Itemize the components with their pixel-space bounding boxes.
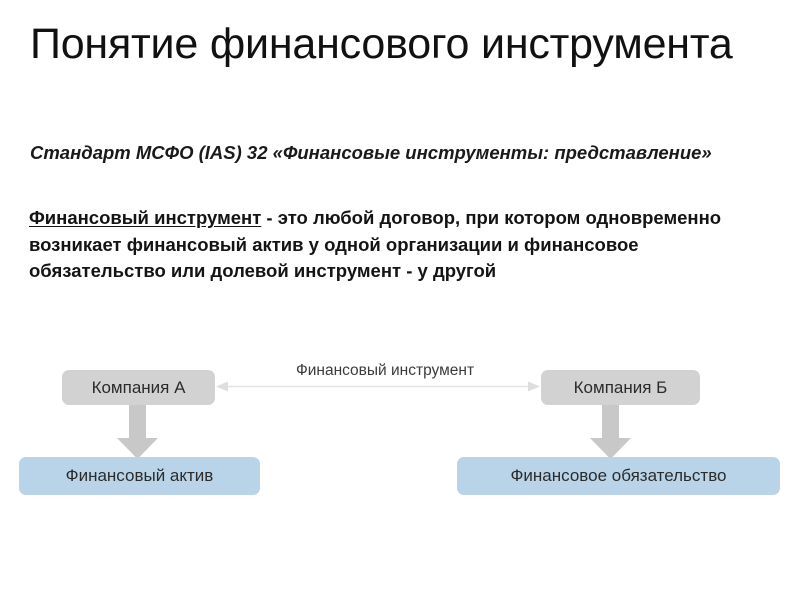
definition-paragraph: Финансовый инструмент - это любой догово… xyxy=(29,205,773,285)
definition-line-3: обязательство или долевой инструмент - у… xyxy=(29,258,773,285)
definition-line-1: Финансовый инструмент - это любой догово… xyxy=(29,205,773,232)
definition-line-1-rest: - это любой договор, при котором одновре… xyxy=(261,207,721,228)
connector-arrowhead-left xyxy=(216,382,228,392)
diagram-node-financial-asset[interactable]: Финансовый актив xyxy=(19,457,260,495)
page-title: Понятие финансового инструмента xyxy=(30,18,775,70)
definition-line-2: возникает финансовый актив у одной орган… xyxy=(29,232,773,259)
definition-term: Финансовый инструмент xyxy=(29,207,261,228)
standard-reference-line: Стандарт МСФО (IAS) 32 «Финансовые инстр… xyxy=(30,140,770,166)
connector-arrowhead-right xyxy=(528,382,540,392)
diagram-node-financial-liability[interactable]: Финансовое обязательство xyxy=(457,457,780,495)
diagram-node-company-a[interactable]: Компания А xyxy=(62,370,215,405)
diagram-node-company-b[interactable]: Компания Б xyxy=(541,370,700,405)
connector-financial-instrument-arrow xyxy=(216,382,540,392)
diagram-connectors xyxy=(0,0,800,599)
connector-label-financial-instrument: Финансовый инструмент xyxy=(240,362,530,380)
block-arrow-company-b-to-liability xyxy=(590,404,631,459)
slide-canvas: Понятие финансового инструмента Стандарт… xyxy=(0,0,800,599)
relationship-diagram: Финансовый инструмент Компания А Компани… xyxy=(0,0,800,599)
block-arrow-company-a-to-asset xyxy=(117,404,158,459)
